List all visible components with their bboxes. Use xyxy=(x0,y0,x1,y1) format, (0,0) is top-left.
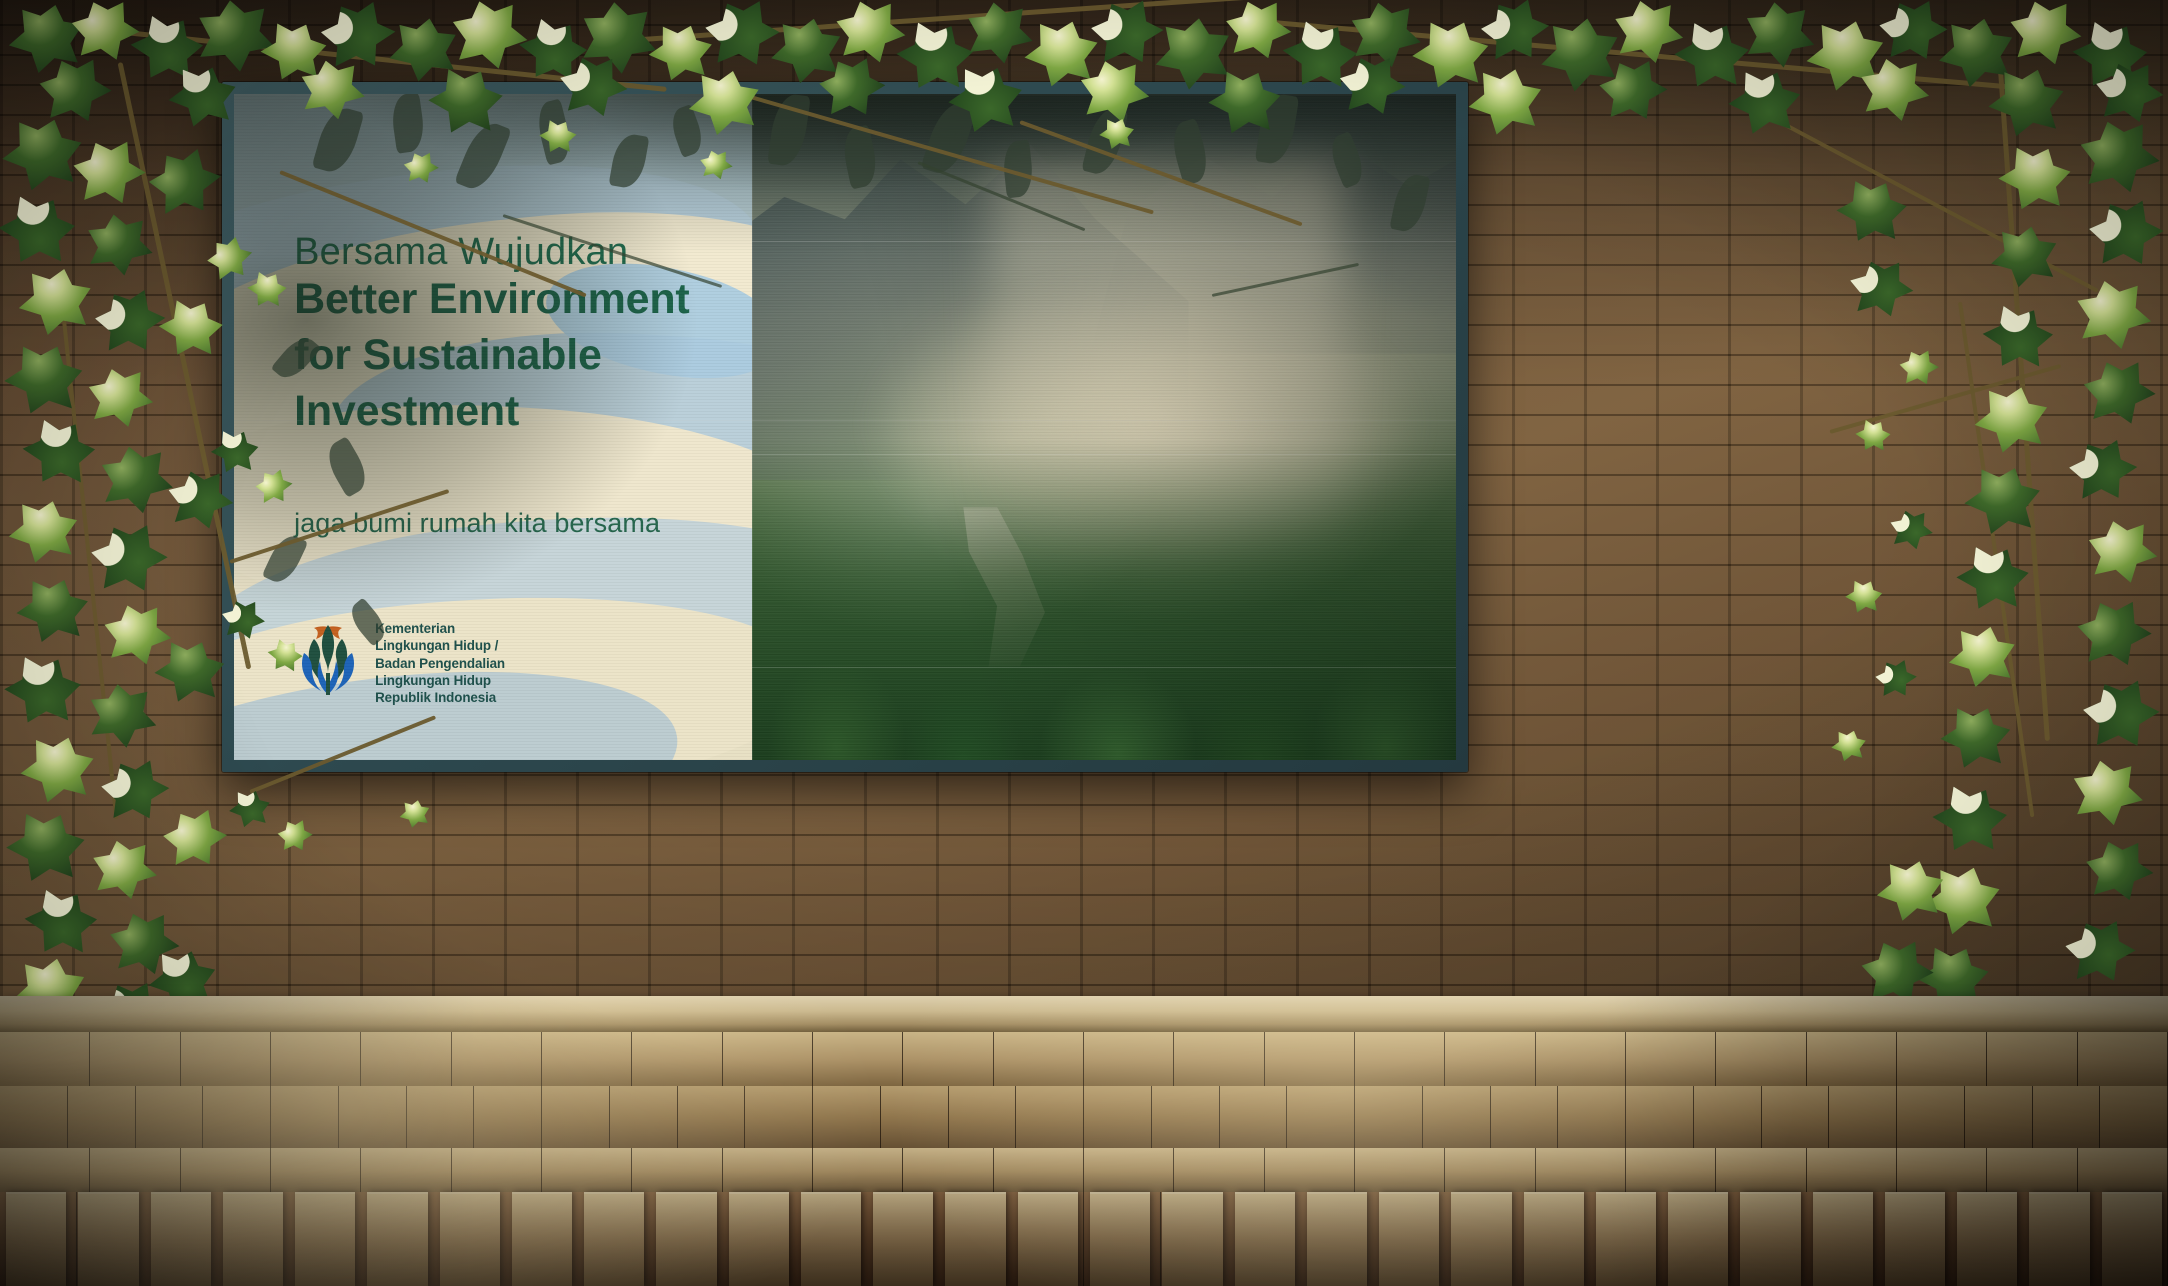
billboard-poster: Bersama Wujudkan Better Environment for … xyxy=(234,94,1456,760)
brick-cornice-ledge xyxy=(0,996,2168,1286)
headline-line-3: Investment xyxy=(294,384,689,440)
ministry-banyan-emblem xyxy=(294,617,362,695)
poster-eyebrow: Bersama Wujudkan xyxy=(294,231,628,274)
poster-left-panel: Bersama Wujudkan Better Environment for … xyxy=(234,94,752,760)
billboard-frame: Bersama Wujudkan Better Environment for … xyxy=(222,82,1468,772)
billboard-scene: Bersama Wujudkan Better Environment for … xyxy=(0,0,2168,1286)
misty-tropical-valley-photo xyxy=(752,94,1456,760)
poster-panel-seam xyxy=(752,94,753,760)
photo-grain xyxy=(752,94,1456,760)
poster-horizontal-seam xyxy=(234,420,1456,421)
poster-headline: Better Environment for Sustainable Inves… xyxy=(294,272,689,440)
poster-right-panel xyxy=(752,94,1456,760)
headline-line-2: for Sustainable xyxy=(294,328,689,384)
poster-tagline: jaga bumi rumah kita bersama xyxy=(294,508,660,539)
ministry-logo-text: Kementerian Lingkungan Hidup / Badan Pen… xyxy=(375,617,505,707)
headline-line-1: Better Environment xyxy=(294,272,689,328)
ministry-logo-lockup: Kementerian Lingkungan Hidup / Badan Pen… xyxy=(294,617,505,707)
ledge-lighting xyxy=(0,996,2168,1286)
